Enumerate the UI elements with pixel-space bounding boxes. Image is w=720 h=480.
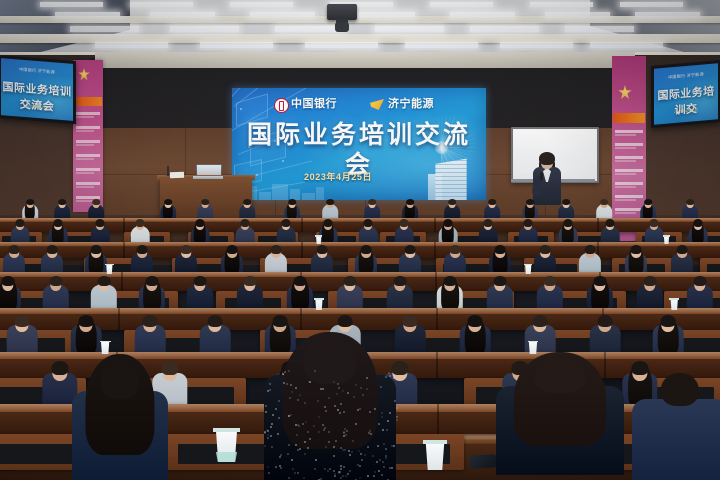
audience-hair [146, 276, 159, 287]
sequin [396, 419, 398, 421]
audience-hair [494, 276, 507, 287]
audience-hair [95, 219, 104, 226]
audience-hair [468, 315, 483, 327]
audience-hair [271, 245, 282, 254]
sequin [359, 408, 361, 410]
audience-hair [526, 199, 534, 205]
audience-hair [585, 245, 596, 254]
sequin [374, 408, 376, 410]
sequin [387, 420, 389, 422]
audience-hair [294, 276, 307, 287]
audience-hair [600, 199, 608, 205]
audience-hair [644, 199, 652, 205]
audience-hair [273, 315, 288, 327]
audience-hair [403, 315, 418, 327]
sequin [328, 431, 330, 433]
sequin [329, 468, 331, 470]
audience-hair [137, 245, 148, 254]
sequin [277, 433, 279, 435]
desk-gap [597, 218, 599, 232]
sequin [343, 431, 345, 433]
sequin [295, 444, 297, 446]
paper-cup-lip [423, 440, 447, 444]
audience-hair [98, 276, 111, 287]
foreground-person-far-right [632, 366, 720, 476]
audience-hair [91, 245, 102, 254]
sequin [381, 412, 383, 414]
right-monitor-logos: 中国银行 济宁能源 [654, 70, 718, 82]
paper-cup-lip [528, 341, 539, 343]
audience-hair [58, 199, 66, 205]
audience-hair [533, 315, 548, 327]
boc-logo-icon [274, 98, 289, 113]
sequin [340, 403, 342, 405]
sequin [389, 375, 391, 377]
tech-node [240, 108, 242, 110]
sequin [388, 372, 390, 374]
sequin [385, 455, 387, 457]
sequin [278, 417, 280, 419]
sequin [290, 384, 292, 386]
chair-pad [679, 338, 720, 353]
desk-gap [436, 308, 438, 330]
sequin [267, 430, 269, 432]
desk-gap [300, 308, 302, 330]
sequin [340, 468, 342, 470]
sequin [275, 408, 277, 410]
audience-hair [208, 315, 223, 327]
paper-cup-lip [314, 298, 324, 300]
audience-hair [195, 219, 204, 226]
desk-gap [123, 242, 125, 258]
audience-seating [0, 180, 720, 480]
sequin [378, 470, 380, 472]
audience-hair [523, 219, 532, 226]
sequin [307, 447, 309, 449]
sequin [338, 387, 340, 389]
sequin [315, 459, 317, 461]
right-monitor-display: 中国银行 济宁能源 国际业务培训交 2023年4月25日 [654, 63, 718, 125]
audience-hair [649, 219, 658, 226]
sequin [288, 477, 290, 479]
audience-hair [201, 199, 209, 205]
desk-gap [121, 272, 123, 291]
audience-hair [2, 276, 15, 287]
audience-hair [244, 276, 257, 287]
desk-gap [437, 404, 439, 434]
audience-hair [53, 219, 62, 226]
sequin [271, 446, 273, 448]
audience-hair [405, 245, 416, 254]
right-monitor: 中国银行 济宁能源 国际业务培训交 2023年4月25日 [651, 60, 720, 128]
foreground-person-left [72, 352, 168, 480]
audience-hair [394, 276, 407, 287]
audience-hair [598, 315, 613, 327]
sequin [379, 459, 381, 461]
sequin [307, 431, 309, 433]
audience-hair [323, 219, 332, 226]
left-monitor-logos: 中国银行 济宁能源 [1, 65, 73, 77]
audience-hair [631, 245, 642, 254]
audience-hair [406, 199, 414, 205]
audience-hair [50, 276, 63, 287]
desk-gap [301, 242, 303, 258]
audience-hair [9, 245, 20, 254]
sequin [377, 445, 379, 447]
info-board-text-row [615, 169, 643, 172]
paper-cup-lip [524, 264, 532, 266]
audience-hair [338, 315, 353, 327]
sequin [343, 466, 345, 468]
sequin [349, 470, 351, 472]
audience-hair [605, 219, 614, 226]
foreground-head [534, 357, 585, 393]
audience-hair [562, 199, 570, 205]
audience-hair [243, 199, 251, 205]
sequin [286, 383, 288, 385]
sequin [267, 434, 269, 436]
audience-hair [448, 199, 456, 205]
audience-hair [540, 245, 551, 254]
audience-hair [661, 315, 676, 327]
screen-logo-row: 中国银行 济宁能源 [274, 97, 454, 112]
audience-hair [677, 245, 688, 254]
desk-gap [434, 218, 436, 232]
audience-hair [135, 219, 144, 226]
sequin [333, 455, 335, 457]
foreground-head [101, 360, 139, 399]
audience-hair [363, 219, 372, 226]
smartphone [470, 454, 497, 468]
sequin [382, 461, 384, 463]
sequin [346, 430, 348, 432]
audience-hair [344, 276, 357, 287]
sequin [372, 455, 374, 457]
sequin [336, 393, 338, 395]
sequin [340, 465, 342, 467]
sequin [351, 451, 353, 453]
paper-cup-lip [663, 235, 670, 237]
audience-hair [686, 199, 694, 205]
desk-gap [436, 352, 438, 378]
audience-hair [288, 199, 296, 205]
sequin [303, 477, 305, 479]
paper-cup-lip [100, 341, 111, 343]
sequin [333, 381, 335, 383]
sequin [317, 400, 319, 402]
audience-hair [444, 276, 457, 287]
audience-hair [483, 219, 492, 226]
foreground-person-right [496, 350, 624, 470]
presenter-hair [539, 152, 555, 165]
sequin [385, 448, 387, 450]
sequin [291, 391, 293, 393]
paper-cup-lip [315, 235, 322, 237]
info-board-text-row [615, 143, 643, 146]
sequin [362, 394, 364, 396]
sequin [333, 446, 335, 448]
jining-energy-label: 济宁能源 [388, 97, 434, 112]
sequin [333, 470, 335, 472]
paper-cup-lip [669, 298, 679, 300]
sequin [322, 424, 324, 426]
foreground-person-center [264, 330, 396, 480]
boc-logo-label: 中国银行 [291, 97, 337, 112]
desk-gap [301, 218, 303, 232]
audience-hair [693, 219, 702, 226]
sequin [328, 441, 330, 443]
audience-hair [281, 219, 290, 226]
sequin [383, 443, 385, 445]
sequin [386, 429, 388, 431]
audience-hair [443, 219, 452, 226]
left-monitor: 中国银行 济宁能源 国际业务培训交流会 2023年4月25日 [0, 55, 76, 124]
audience-hair [495, 245, 506, 254]
sequin [272, 414, 274, 416]
foreground-body [632, 399, 720, 480]
sequin [314, 468, 316, 470]
desk-gap [118, 308, 120, 330]
sequin [343, 435, 345, 437]
info-board-text-row [615, 130, 643, 133]
sequin [334, 405, 336, 407]
foreground-head [304, 339, 357, 384]
paper-cup-lip [105, 264, 113, 266]
audience-hair [361, 245, 372, 254]
paper-cup-lip [213, 428, 240, 432]
audience-hair [92, 199, 100, 205]
paper-cup-base [215, 452, 238, 462]
sequin [396, 416, 398, 418]
sequin [296, 434, 298, 436]
audience-hair [450, 245, 461, 254]
audience-hair [227, 245, 238, 254]
info-board-text-row [615, 156, 643, 159]
conference-room-photo: 中国银行 济宁能源 国际业务培训交流会 2023年4月25日 中国银行 济宁能源… [0, 0, 720, 480]
sequin [335, 440, 337, 442]
laptop-base [193, 176, 223, 179]
audience-hair [326, 199, 334, 205]
sequin [342, 390, 344, 392]
audience-hair [644, 276, 657, 287]
sequin [348, 450, 350, 452]
desk-gap [123, 218, 125, 232]
sequin [360, 387, 362, 389]
audience-hair [317, 245, 328, 254]
audience-hair [143, 315, 158, 327]
chair-pad [0, 444, 82, 464]
sequin [370, 433, 372, 435]
audience-hair [694, 276, 707, 287]
audience-hair [368, 199, 376, 205]
audience-hair [47, 245, 58, 254]
foreground-head [661, 373, 699, 406]
audience-hair [15, 219, 24, 226]
audience-hair [26, 199, 34, 205]
sequin [396, 407, 398, 409]
desk-gap [434, 242, 436, 258]
podium-papers [170, 172, 184, 178]
audience-hair [51, 361, 68, 375]
sequin [357, 409, 359, 411]
audience-hair [194, 276, 207, 287]
jining-energy-logo-icon [370, 99, 384, 110]
sequin [297, 399, 299, 401]
audience-hair [488, 199, 496, 205]
audience-hair [563, 219, 572, 226]
sequin [343, 411, 345, 413]
audience-hair [164, 199, 172, 205]
sequin [339, 412, 341, 414]
audience-hair [79, 315, 94, 327]
audience-hair [15, 315, 30, 327]
sequin [304, 402, 306, 404]
sequin [381, 474, 383, 476]
microphone-icon [540, 172, 543, 180]
sequin [278, 400, 280, 402]
audience-hair [240, 219, 249, 226]
sequin [318, 416, 320, 418]
sequin [360, 453, 362, 455]
sequin [337, 383, 339, 385]
podium-microphone-icon [167, 166, 169, 176]
sequin [393, 377, 395, 379]
audience-hair [594, 276, 607, 287]
sequin [382, 429, 384, 431]
sequin [355, 384, 357, 386]
audience-hair [544, 276, 557, 287]
audience-hair [399, 219, 408, 226]
left-monitor-display: 中国银行 济宁能源 国际业务培训交流会 2023年4月25日 [1, 58, 73, 121]
audience-hair [181, 245, 192, 254]
